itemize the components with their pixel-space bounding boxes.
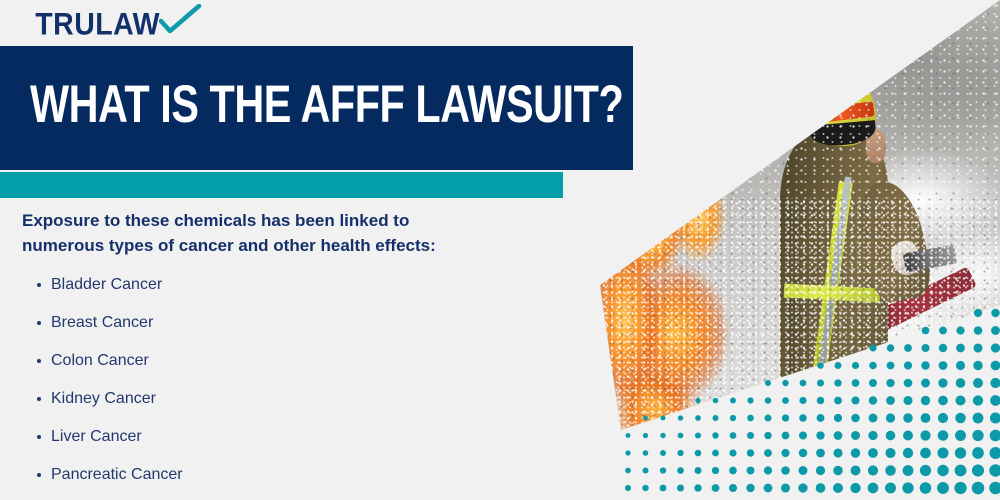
photo-background <box>600 0 1000 430</box>
page-title: WHAT IS THE AFFF LAWSUIT? <box>30 77 623 130</box>
infographic-page: TRULAW WHAT IS THE AFFF LAWSUIT? Exposur… <box>0 0 1000 500</box>
list-item: Liver Cancer <box>22 418 562 456</box>
list-item: Bladder Cancer <box>22 266 562 304</box>
list-item: Pancreatic Cancer <box>22 456 562 494</box>
list-item: Kidney Cancer <box>22 380 562 418</box>
firefighter-photo <box>600 0 1000 430</box>
teal-accent-bar <box>0 172 563 198</box>
cancer-type-list: Bladder Cancer Breast Cancer Colon Cance… <box>22 266 562 494</box>
checkmark-icon <box>159 4 203 41</box>
intro-line-1: Exposure to these chemicals has been lin… <box>22 208 582 233</box>
intro-line-2: numerous types of cancer and other healt… <box>22 233 582 258</box>
spray-speckle-lower <box>600 198 1000 430</box>
intro-paragraph: Exposure to these chemicals has been lin… <box>22 208 582 258</box>
list-item: Breast Cancer <box>22 304 562 342</box>
logo-wordmark: TRULAW <box>35 9 160 41</box>
headline-banner: WHAT IS THE AFFF LAWSUIT? <box>0 46 633 170</box>
trulaw-logo[interactable]: TRULAW <box>32 8 203 42</box>
list-item: Colon Cancer <box>22 342 562 380</box>
